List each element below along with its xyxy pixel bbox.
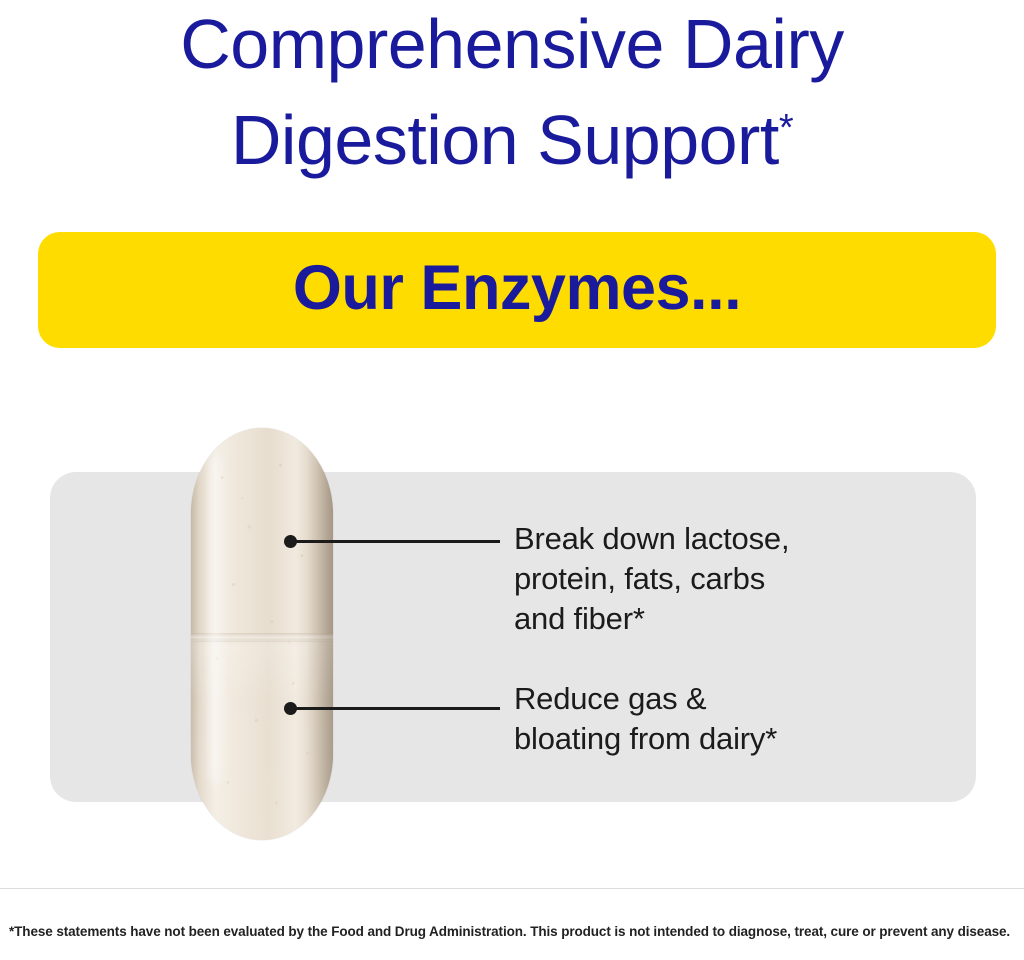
callout-2-line-2: bloating from dairy* (514, 719, 777, 759)
callout-benefit-2: Reduce gas & bloating from dairy* (514, 679, 777, 759)
headline-asterisk: * (779, 107, 793, 149)
section-banner: Our Enzymes... (38, 232, 996, 348)
callout-1-leader-line (292, 540, 500, 543)
section-banner-label: Our Enzymes... (293, 257, 741, 320)
callout-2-line-1: Reduce gas & (514, 679, 777, 719)
page-title: Comprehensive Dairy Digestion Support* (0, 0, 1024, 188)
fda-disclaimer-text: *These statements have not been evaluate… (9, 923, 1019, 941)
capsule-highlight (209, 454, 229, 784)
callout-1-line-1: Break down lactose, (514, 519, 789, 559)
callout-benefit-1: Break down lactose, protein, fats, carbs… (514, 519, 789, 639)
capsule-photo (191, 428, 333, 840)
callout-2-leader-line (292, 707, 500, 710)
product-infographic: Comprehensive Dairy Digestion Support* O… (0, 0, 1024, 960)
callout-1-line-2: protein, fats, carbs (514, 559, 789, 599)
headline-line-1: Comprehensive Dairy (0, 0, 1024, 92)
headline-line-2: Digestion Support* (0, 92, 1024, 188)
footer-disclaimer-bar: *These statements have not been evaluate… (0, 888, 1024, 960)
headline-line-2-text: Digestion Support (231, 101, 779, 179)
capsule-shading (307, 428, 333, 840)
callout-1-line-3: and fiber* (514, 599, 789, 639)
content-panel (50, 472, 976, 802)
